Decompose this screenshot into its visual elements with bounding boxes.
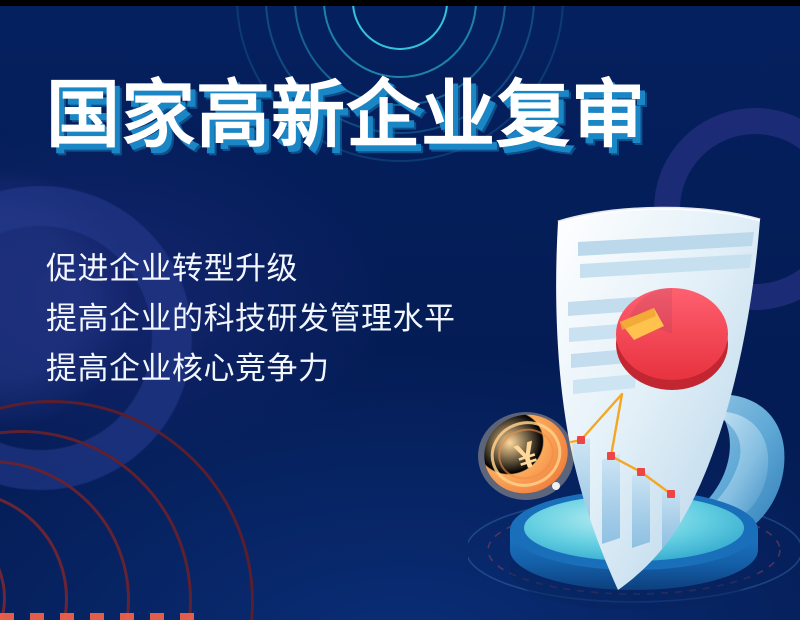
subtitle-line-1: 促进企业转型升级 (46, 244, 456, 294)
top-black-strip (0, 0, 800, 6)
subtitle-line-3: 提高企业核心竞争力 (46, 344, 456, 394)
page-title: 国家高新企业复审 (46, 78, 646, 152)
bottom-dashed-accent (0, 613, 210, 620)
promo-banner: 国家高新企业复审 促进企业转型升级 提高企业的科技研发管理水平 提高企业核心竞争… (0, 0, 800, 620)
illustration: ¥ (468, 198, 800, 620)
pie-chart (616, 288, 728, 390)
currency-coin: ¥ (474, 404, 578, 504)
subtitle-line-2: 提高企业的科技研发管理水平 (46, 294, 456, 344)
subtitle-list: 促进企业转型升级 提高企业的科技研发管理水平 提高企业核心竞争力 (46, 244, 456, 395)
